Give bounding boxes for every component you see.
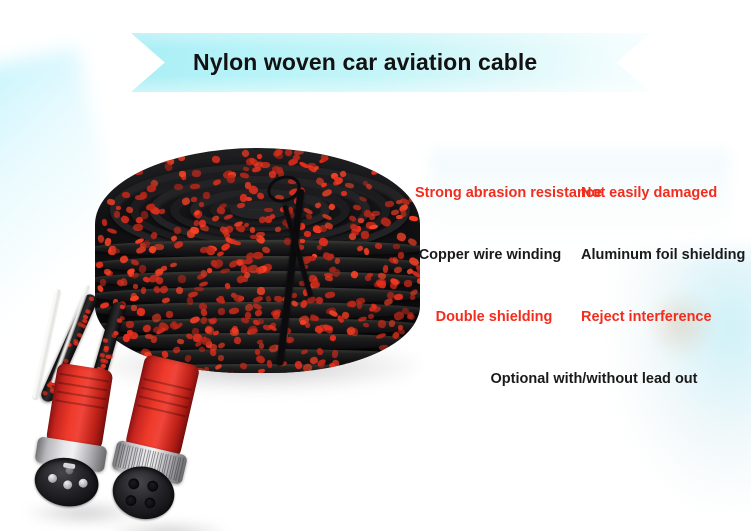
female-connector-socket-4 (143, 496, 156, 509)
cable-speckle (198, 346, 205, 352)
cable-speckle (218, 308, 225, 315)
cable-speckle (140, 210, 149, 219)
cable-speckle (370, 167, 381, 176)
cable-speckle (230, 328, 240, 336)
cable-speckle (384, 200, 393, 207)
cable-speckle (404, 279, 413, 286)
cable-speckle (134, 168, 144, 174)
feature-optional-lead-out: Optional with/without lead out (415, 371, 745, 388)
cable-speckle (382, 265, 388, 273)
cable-coil (95, 148, 420, 383)
product-photo (10, 140, 420, 531)
cable-speckle (404, 187, 413, 194)
cable-speckle (202, 337, 211, 344)
cable-speckle (103, 347, 109, 352)
cable-speckle (284, 148, 293, 157)
cable-speckle (131, 305, 137, 311)
cable-speckle (347, 300, 357, 307)
feature-row: Optional with/without lead out (415, 371, 745, 401)
cable-speckle (257, 287, 265, 295)
product-marketing-image: Nylon woven car aviation cable (0, 0, 751, 531)
male-connector-pin-4 (65, 466, 74, 475)
cable-speckle (260, 162, 270, 168)
cable-speckle (177, 274, 186, 283)
male-connector-pin-1 (47, 473, 57, 483)
cable-speckle (116, 206, 121, 210)
cable-speckle (179, 171, 186, 177)
cable-speckle (395, 199, 402, 204)
male-connector-pin-2 (63, 480, 73, 490)
female-connector-socket-2 (146, 480, 159, 493)
cable-speckle (178, 154, 186, 161)
cable-speckle (122, 191, 131, 198)
female-connector-socket-3 (124, 494, 137, 507)
cable-speckle (174, 183, 183, 190)
page-title: Nylon woven car aviation cable (193, 49, 537, 76)
cable-speckle (396, 231, 407, 241)
cable-speckle (293, 148, 304, 156)
cable-speckle (241, 148, 250, 157)
feature-row: Double shielding Reject interference (415, 309, 745, 371)
cable-speckle (76, 333, 82, 339)
cable-speckle (81, 323, 87, 329)
cable-speckle (111, 333, 117, 338)
cable-speckle (107, 227, 118, 234)
cable-speckle (310, 315, 319, 321)
title-banner: Nylon woven car aviation cable (131, 33, 651, 92)
cable-speckle (85, 309, 91, 315)
cable-speckle (300, 320, 306, 325)
feature-copper-wire-winding: Copper wire winding (415, 247, 581, 264)
feature-not-easily-damaged: Not easily damaged (581, 185, 745, 202)
cable-speckle (125, 321, 133, 329)
feature-strong-abrasion-resistance: Strong abrasion resistance (415, 185, 581, 202)
feature-aluminum-foil-shielding: Aluminum foil shielding (581, 247, 745, 264)
female-connector-socket-1 (127, 477, 140, 490)
cable-speckle (103, 338, 109, 343)
coil-surface (95, 148, 420, 373)
cable-speckle (218, 295, 224, 302)
feature-row: Copper wire winding Aluminum foil shield… (415, 247, 745, 309)
cable-speckle (409, 196, 414, 202)
male-connector-pin-3 (78, 478, 88, 488)
cable-speckle (358, 218, 364, 223)
cable-speckle (211, 155, 220, 164)
cable-speckle (393, 293, 403, 300)
feature-row: Strong abrasion resistance Not easily da… (415, 185, 745, 247)
cable-speckle (99, 353, 105, 358)
cable-speckle (307, 163, 316, 168)
cable-speckle (203, 192, 210, 200)
feature-double-shielding: Double shielding (415, 309, 581, 326)
cable-speckle (88, 297, 94, 303)
cable-speckle (254, 349, 260, 355)
cable-speckle (361, 230, 369, 238)
cable-speckle (392, 243, 399, 248)
feature-list: Strong abrasion resistance Not easily da… (415, 185, 745, 401)
cable-speckle (139, 191, 147, 199)
cable-speckle (293, 155, 300, 160)
cable-speckle (166, 311, 173, 318)
feature-reject-interference: Reject interference (581, 309, 745, 326)
cable-speckle (101, 219, 108, 227)
cable-speckle (192, 170, 201, 177)
cable-speckle (154, 244, 163, 250)
cable-speckle (256, 153, 262, 159)
cable-speckle (345, 362, 350, 366)
